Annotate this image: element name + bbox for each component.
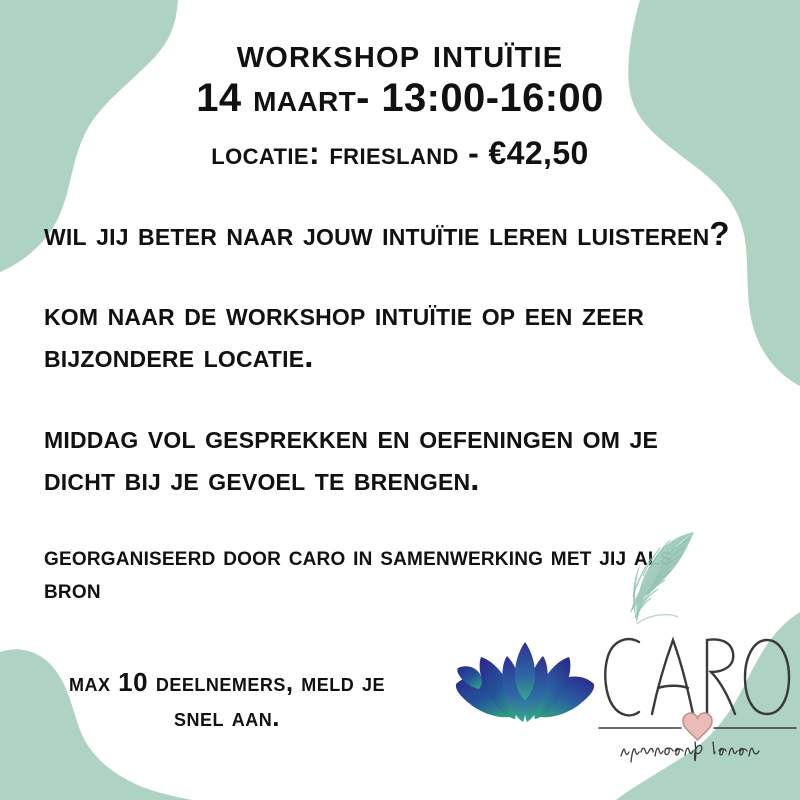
event-location-price: locatie: Friesland - €42,50	[0, 136, 800, 171]
caro-logo: CARO inspirerend leven	[440, 520, 800, 800]
letter-a	[652, 640, 693, 714]
event-datetime: 14 maart- 13:00-16:00	[0, 77, 800, 120]
poster-content: Workshop Intuïtie 14 maart- 13:00-16:00 …	[0, 0, 800, 800]
headline-block: Workshop Intuïtie 14 maart- 13:00-16:00 …	[0, 31, 800, 171]
call-to-action-text: Max 10 deelnemers, meld je snel aan.	[52, 665, 402, 735]
page-title: Workshop Intuïtie	[0, 31, 800, 75]
letter-r	[707, 639, 735, 714]
body-paragraph-2: Kom naar de workshop intuïtie op een zee…	[44, 293, 734, 377]
heart-icon	[683, 713, 712, 740]
brand-tagline-text: inspirerend leven	[440, 520, 441, 521]
letter-c	[605, 639, 639, 715]
lotus-flower-icon	[450, 640, 600, 730]
brand-name-text: CARO	[440, 520, 441, 521]
poster-canvas: Workshop Intuïtie 14 maart- 13:00-16:00 …	[0, 0, 800, 800]
tagline-script	[621, 742, 759, 762]
body-paragraph-1: Wil jij beter naar jouw intuïtie leren l…	[44, 213, 734, 255]
caro-wordmark	[595, 620, 800, 765]
letter-o	[745, 640, 789, 714]
body-paragraph-3: Middag vol gesprekken en oefeningen om j…	[44, 416, 734, 500]
